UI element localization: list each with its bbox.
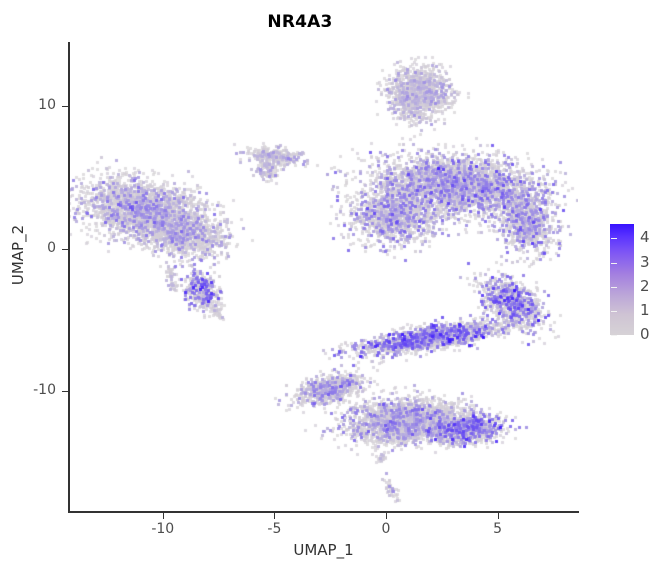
colorbar-tick-label: 1	[640, 301, 650, 319]
y-tick-label: -10	[0, 382, 56, 398]
x-tick-label: -10	[133, 521, 193, 537]
colorbar-tick-label: 0	[640, 325, 650, 343]
colorbar-tick-mark	[611, 263, 617, 264]
colorbar-tick-label: 4	[640, 228, 650, 246]
page-title: NR4A3	[0, 12, 600, 32]
colorbar-tick-mark	[611, 287, 617, 288]
colorbar-tick-mark	[611, 311, 617, 312]
x-tick-label: -5	[244, 521, 304, 537]
x-tick-mark	[274, 513, 275, 519]
y-axis-label: UMAP_2	[9, 145, 27, 365]
colorbar-gradient	[610, 224, 634, 335]
x-axis-line	[68, 511, 579, 513]
x-tick-mark	[163, 513, 164, 519]
colorbar-tick-label: 3	[640, 253, 650, 271]
x-tick-label: 5	[468, 521, 528, 537]
y-axis-line	[68, 42, 70, 513]
plot-panel	[69, 42, 578, 512]
x-tick-mark	[386, 513, 387, 519]
y-tick-mark	[62, 391, 68, 392]
x-axis-label: UMAP_1	[69, 541, 578, 559]
y-tick-mark	[62, 106, 68, 107]
colorbar-tick-label: 2	[640, 277, 650, 295]
scatter-plot-canvas	[69, 42, 578, 512]
colorbar-tick-mark	[611, 335, 617, 336]
y-tick-mark	[62, 249, 68, 250]
y-tick-label: 10	[0, 97, 56, 113]
colorbar-legend: 43210	[610, 224, 670, 342]
x-tick-label: 0	[356, 521, 416, 537]
colorbar-tick-mark	[611, 238, 617, 239]
umap-feature-plot: NR4A3 -10-505 100-10 UMAP_1 UMAP_2 43210	[0, 0, 672, 576]
x-tick-mark	[498, 513, 499, 519]
